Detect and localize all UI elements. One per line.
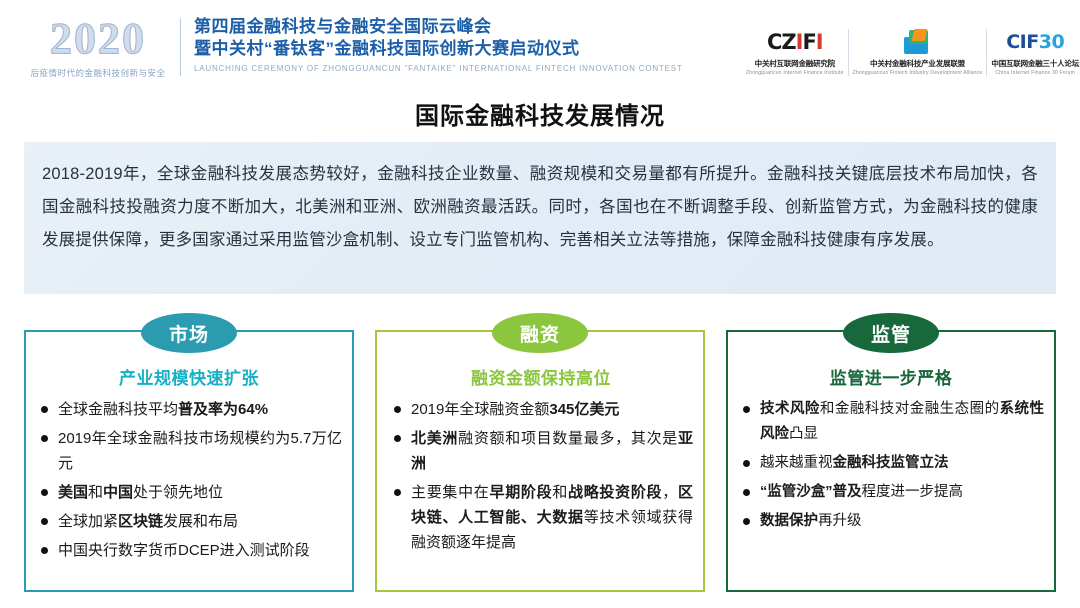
list-item: 全球加紧区块链发展和布局	[36, 509, 342, 534]
card-funding-bullet-list: 2019年全球融资金额345亿美元北美洲融资额和项目数量最多，其次是亚洲主要集中…	[389, 397, 693, 555]
list-item: 美国和中国处于领先地位	[36, 480, 342, 505]
card-market-pill: 市场	[141, 313, 237, 353]
intro-paragraph: 2018-2019年，全球金融科技发展态势较好，金融科技企业数量、融资规模和交易…	[42, 158, 1038, 257]
cube-mark-icon	[853, 29, 983, 55]
card-regulation: 监管 监管进一步严格 技术风险和金融科技对金融生态圈的系统性风险凸显越来越重视金…	[726, 330, 1056, 592]
card-regulation-pill: 监管	[843, 313, 939, 353]
partner-logo-czifi: CZIFI 中关村互联网金融研究院 Zhongguancun Internet …	[742, 29, 848, 76]
page-title: 国际金融科技发展情况	[0, 96, 1080, 131]
card-regulation-bullet-list: 技术风险和金融科技对金融生态圈的系统性风险凸显越来越重视金融科技监管立法“监管沙…	[738, 397, 1044, 534]
card-regulation-heading: 监管进一步严格	[738, 364, 1044, 389]
list-item: 中国央行数字货币DCEP进入测试阶段	[36, 538, 342, 563]
partner-logo-name-cn: 中关村金融科技产业发展联盟	[853, 58, 983, 69]
list-item: “监管沙盒”普及程度进一步提高	[738, 480, 1044, 505]
czifi-mark-icon: CZIFI	[746, 29, 844, 55]
card-funding: 融资 融资金额保持高位 2019年全球融资金额345亿美元北美洲融资额和项目数量…	[375, 330, 705, 592]
partner-logos: CZIFI 中关村互联网金融研究院 Zhongguancun Internet …	[742, 20, 1072, 84]
header-title-block: 第四届金融科技与金融安全国际云峰会 暨中关村“番钛客”金融科技国际创新大赛启动仪…	[194, 16, 754, 73]
page-header: 2020 后疫情时代的金融科技创新与安全 第四届金融科技与金融安全国际云峰会 暨…	[0, 0, 1080, 90]
header-divider	[180, 18, 181, 76]
card-market: 市场 产业规模快速扩张 全球金融科技平均普及率为64%2019年全球金融科技市场…	[24, 330, 354, 592]
partner-logo-name-en: Zhongguancun Internet Finance Institute	[746, 70, 844, 76]
list-item: 数据保护再升级	[738, 509, 1044, 534]
list-item: 越来越重视金融科技监管立法	[738, 451, 1044, 476]
partner-logo-cif30: CIF30 中国互联网金融三十人论坛 China Internet Financ…	[986, 29, 1080, 76]
list-item: 2019年全球融资金额345亿美元	[389, 397, 693, 422]
partner-logo-name-en: China Internet Finance 30 Forum	[991, 70, 1079, 76]
header-title-english: LAUNCHING CEREMONY OF ZHONGGUANCUN "FANT…	[194, 64, 754, 73]
partner-logo-zgc-alliance: 中关村金融科技产业发展联盟 Zhongguancun Fintech Indus…	[848, 29, 987, 76]
card-market-heading: 产业规模快速扩张	[36, 364, 342, 389]
list-item: 全球金融科技平均普及率为64%	[36, 397, 342, 422]
intro-panel: 2018-2019年，全球金融科技发展态势较好，金融科技企业数量、融资规模和交易…	[24, 142, 1056, 294]
partner-logo-name-cn: 中国互联网金融三十人论坛	[991, 58, 1079, 69]
year-logo-number: 2020	[22, 14, 174, 64]
card-funding-heading: 融资金额保持高位	[389, 364, 693, 389]
header-title-line1: 第四届金融科技与金融安全国际云峰会	[194, 16, 754, 38]
partner-logo-name-en: Zhongguancun Fintech Industry Developmen…	[853, 70, 983, 76]
list-item: 北美洲融资额和项目数量最多，其次是亚洲	[389, 426, 693, 476]
list-item: 2019年全球金融科技市场规模约为5.7万亿元	[36, 426, 342, 476]
list-item: 技术风险和金融科技对金融生态圈的系统性风险凸显	[738, 397, 1044, 447]
card-market-bullet-list: 全球金融科技平均普及率为64%2019年全球金融科技市场规模约为5.7万亿元美国…	[36, 397, 342, 563]
year-logo: 2020 后疫情时代的金融科技创新与安全	[22, 14, 174, 86]
header-title-line2: 暨中关村“番钛客”金融科技国际创新大赛启动仪式	[194, 38, 754, 60]
partner-logo-name-cn: 中关村互联网金融研究院	[746, 58, 844, 69]
summary-cards: 市场 产业规模快速扩张 全球金融科技平均普及率为64%2019年全球金融科技市场…	[24, 330, 1056, 592]
year-logo-tagline: 后疫情时代的金融科技创新与安全	[22, 67, 174, 79]
card-funding-pill: 融资	[492, 313, 588, 353]
list-item: 主要集中在早期阶段和战略投资阶段，区块链、人工智能、大数据等技术领域获得融资额逐…	[389, 480, 693, 555]
cif30-mark-icon: CIF30	[991, 29, 1079, 55]
